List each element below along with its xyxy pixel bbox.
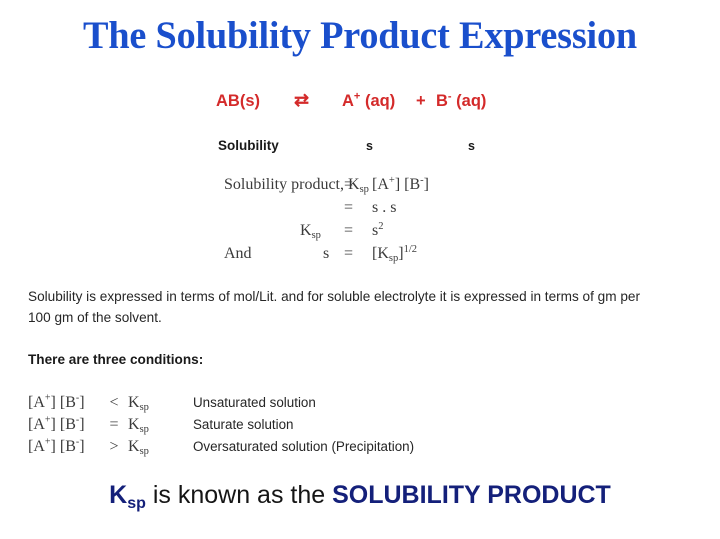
slide-canvas: The Solubility Product Expression AB(s) … <box>0 0 720 539</box>
derivation-s-label: s <box>323 245 329 263</box>
ksp-sub: sp <box>312 230 321 241</box>
expr-mid: ] [B <box>51 416 76 433</box>
reaction-reactant: AB(s) <box>216 88 260 114</box>
cation-state: (aq) <box>360 92 395 110</box>
derivation-equals-1: = <box>344 176 353 194</box>
expr-mid: ] [B <box>51 394 76 411</box>
footer-emphasis: SOLUBILITY PRODUCT <box>332 481 611 509</box>
expr-open: [A <box>28 438 45 455</box>
condition-row: [A+] [B-] = Ksp Saturate solution <box>0 416 720 438</box>
footer-statement: Ksp is known as the SOLUBILITY PRODUCT <box>0 478 720 516</box>
conditions-heading: There are three conditions: <box>28 350 203 370</box>
condition-row: [A+] [B-] > Ksp Oversaturated solution (… <box>0 438 720 460</box>
condition-row: [A+] [B-] < Ksp Unsaturated solution <box>0 394 720 416</box>
derivation-line-1: Solubility product, Ksp = [A+] [B-] <box>0 176 720 199</box>
cation-symbol: A <box>342 92 354 110</box>
anion-state: (aq) <box>452 92 487 110</box>
ksp-lead-text: Solubility product, K <box>224 176 360 193</box>
anion-charge-sup: - <box>420 175 424 186</box>
condition-operator: = <box>106 416 122 434</box>
expr-close: ] <box>79 416 84 433</box>
condition-operator: < <box>106 394 122 412</box>
equilibrium-arrow-icon: ⇄ <box>294 87 309 113</box>
footer-ksp: Ksp <box>109 481 146 509</box>
reaction-equation: AB(s) ⇄ A+ (aq) + B- (aq) <box>0 88 720 114</box>
condition-ksp: Ksp <box>128 416 149 434</box>
derivation-and-label: And <box>224 245 252 263</box>
anion-symbol: B <box>436 92 448 110</box>
derivation-value-1: [A+] [B-] <box>372 176 429 194</box>
s-exponent: 2 <box>378 221 383 232</box>
condition-ksp-k: K <box>128 438 140 455</box>
condition-ksp: Ksp <box>128 394 149 412</box>
condition-ksp-sub: sp <box>140 446 149 457</box>
expr-open: [A <box>28 416 45 433</box>
derivation-equals-2: = <box>344 199 353 217</box>
page-title: The Solubility Product Expression <box>7 14 713 58</box>
footer-ksp-sub: sp <box>127 495 146 512</box>
footer-ksp-k: K <box>109 481 127 509</box>
expr-close: ] <box>79 438 84 455</box>
solubility-anion-value: s <box>468 136 475 156</box>
condition-ksp-sub: sp <box>140 424 149 435</box>
derivation-value-4: [Ksp]1/2 <box>372 245 417 263</box>
reaction-plus-sign: + <box>416 88 426 114</box>
conditions-list: [A+] [B-] < Ksp Unsaturated solution [A+… <box>0 394 720 460</box>
bracket-mid: ] [B <box>395 176 420 193</box>
expr-open: [A <box>28 394 45 411</box>
derivation-line-4: And s = [Ksp]1/2 <box>0 245 720 268</box>
condition-expression: [A+] [B-] <box>28 438 85 456</box>
condition-ksp-sub: sp <box>140 402 149 413</box>
reaction-product-anion: B- (aq) <box>436 88 486 114</box>
condition-description: Saturate solution <box>193 417 294 432</box>
cation-charge-sup: + <box>389 175 395 186</box>
expr-mid: ] [B <box>51 438 76 455</box>
solubility-row: Solubility s s <box>0 136 720 156</box>
condition-expression: [A+] [B-] <box>28 394 85 412</box>
footer-middle-text: is known as the <box>146 481 332 509</box>
ksp-k: K <box>300 222 312 239</box>
condition-description: Oversaturated solution (Precipitation) <box>193 439 414 454</box>
derivation-line-2: = s . s <box>0 199 720 222</box>
condition-operator: > <box>106 438 122 456</box>
solubility-cation-value: s <box>366 136 373 156</box>
condition-ksp-k: K <box>128 416 140 433</box>
derivation-value-2: s . s <box>372 199 396 217</box>
condition-expression: [A+] [B-] <box>28 416 85 434</box>
derivation-line-3: Ksp = s2 <box>0 222 720 245</box>
ksp-bracket-exponent: 1/2 <box>404 244 417 255</box>
derivation-equals-3: = <box>344 222 353 240</box>
ksp-bracket-close: ] <box>398 245 403 262</box>
reaction-product-cation: A+ (aq) <box>342 88 395 114</box>
derivation-ksp-label: Ksp <box>300 222 321 240</box>
condition-ksp: Ksp <box>128 438 149 456</box>
ksp-bracket-sub: sp <box>389 253 398 264</box>
condition-description: Unsaturated solution <box>193 395 316 410</box>
bracket-close: ] <box>424 176 429 193</box>
ksp-derivation-block: Solubility product, Ksp = [A+] [B-] = s … <box>0 176 720 268</box>
ksp-bracket-open: [K <box>372 245 389 262</box>
expr-close: ] <box>79 394 84 411</box>
ksp-subscript: sp <box>360 184 369 195</box>
derivation-equals-4: = <box>344 245 353 263</box>
solubility-units-paragraph: Solubility is expressed in terms of mol/… <box>28 286 664 328</box>
solubility-label: Solubility <box>218 136 279 156</box>
derivation-value-3: s2 <box>372 222 383 240</box>
bracket-open: [A <box>372 176 389 193</box>
condition-ksp-k: K <box>128 394 140 411</box>
